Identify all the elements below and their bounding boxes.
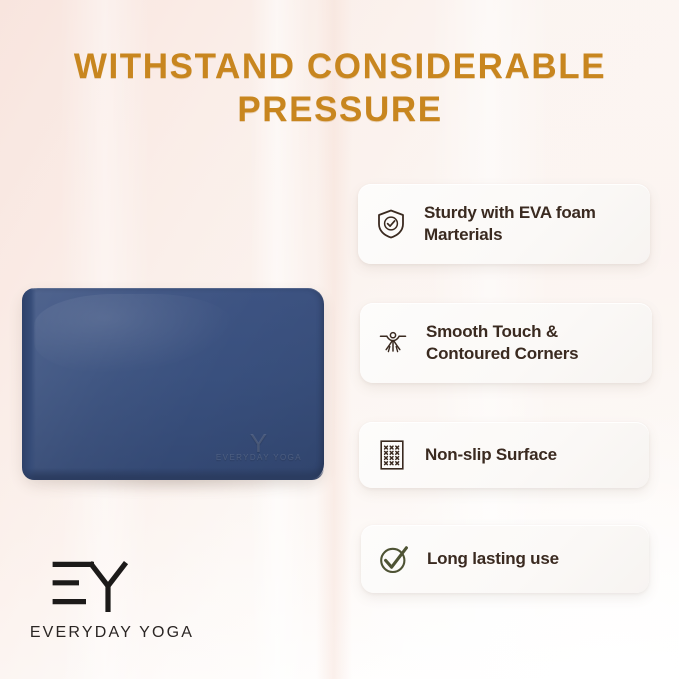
feature-card-non-slip: Non-slip Surface (359, 422, 649, 488)
vitruvian-figure-icon (376, 326, 410, 360)
ey-monogram-icon (50, 556, 202, 617)
feature-label: Long lasting use (427, 548, 559, 570)
embossed-brand-text: EVERYDAY YOGA (216, 453, 302, 462)
textured-surface-icon (375, 438, 409, 472)
product-image: Υ EVERYDAY YOGA (22, 288, 324, 488)
shield-check-icon (374, 207, 408, 241)
feature-label: Sturdy with EVA foam Marterials (424, 202, 634, 246)
check-circle-icon (377, 542, 411, 576)
feature-card-smooth-touch: Smooth Touch & Contoured Corners (360, 303, 652, 383)
promo-image-canvas: WITHSTAND CONSIDERABLE PRESSURE Υ EVERYD… (0, 0, 679, 679)
feature-label: Smooth Touch & Contoured Corners (426, 321, 636, 365)
feature-card-sturdy: Sturdy with EVA foam Marterials (358, 184, 650, 264)
yoga-block: Υ EVERYDAY YOGA (22, 288, 324, 480)
feature-card-long-lasting: Long lasting use (361, 525, 649, 593)
feature-list: Sturdy with EVA foam Marterials Smooth T… (358, 184, 654, 593)
embossed-mark: Υ (216, 433, 302, 453)
brand-logo: EVERYDAY YOGA (22, 556, 202, 642)
page-title: WITHSTAND CONSIDERABLE PRESSURE (50, 46, 630, 131)
block-highlight (34, 294, 234, 374)
embossed-brand-logo: Υ EVERYDAY YOGA (216, 433, 302, 462)
block-side-face (22, 288, 36, 480)
block-bottom-face (22, 468, 324, 480)
brand-name: EVERYDAY YOGA (22, 624, 202, 642)
feature-label: Non-slip Surface (425, 444, 557, 466)
